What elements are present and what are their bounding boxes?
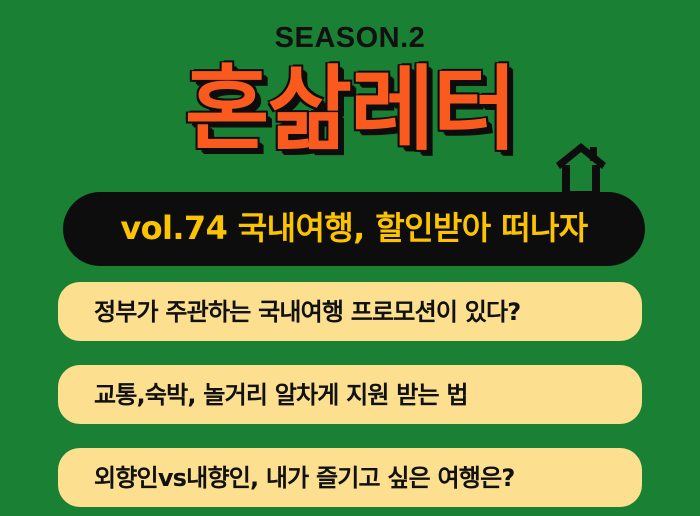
season-kicker: SEASON.2 <box>0 24 700 53</box>
topic-bar-label: 교통,숙박, 놀거리 알차게 지원 받는 법 <box>58 383 468 407</box>
topic-bar[interactable]: 외향인vs내향인, 내가 즐기고 싶은 여행은? <box>58 448 642 507</box>
volume-banner-text: vol.74 국내여행, 할인받아 떠나자 <box>120 212 587 244</box>
house-heart-icon <box>553 141 609 199</box>
topic-bar[interactable]: 정부가 주관하는 국내여행 프로모션이 있다? <box>58 282 642 341</box>
topic-bar-label: 정부가 주관하는 국내여행 프로모션이 있다? <box>58 300 520 324</box>
topic-bar-label: 외향인vs내향인, 내가 즐기고 싶은 여행은? <box>58 466 514 490</box>
volume-banner: vol.74 국내여행, 할인받아 떠나자 <box>63 192 645 266</box>
newsletter-poster: SEASON.2 혼삶레터 vol.74 국내여행, 할인받아 떠나자 정부가 … <box>0 0 700 516</box>
topic-bar[interactable]: 교통,숙박, 놀거리 알차게 지원 받는 법 <box>58 365 642 424</box>
